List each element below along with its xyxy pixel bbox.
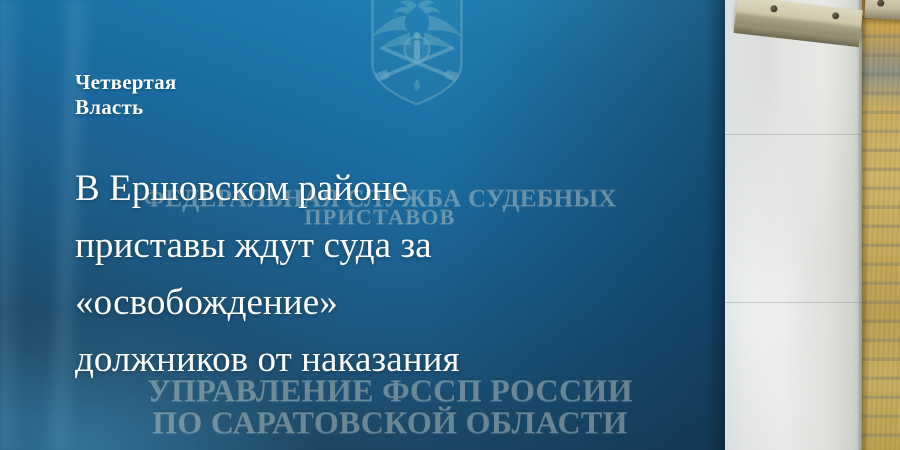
headline-line-4: должников от наказания [75,331,715,388]
headline-line-3: «освобождение» [75,274,715,331]
site-logo[interactable]: Четвертая Власть [75,70,176,120]
ledge-bolt-icon [832,12,840,20]
fssp-emblem-icon [358,0,476,110]
pillar-seam [725,134,863,135]
headline-line-2: приставы ждут суда за [75,217,715,274]
brick-shadow [862,0,869,450]
pillar-seam [725,302,863,303]
brick-wall [862,0,900,450]
concrete-pillar [725,0,863,450]
headline-line-1: В Ершовском районе [75,160,715,217]
pillar-grime [725,0,863,450]
article-hero-card: ФЕДЕРАЛЬНАЯ СЛУЖБА СУДЕБНЫХ ПРИСТАВОВ УП… [0,0,900,450]
ledge-bolt-icon [877,0,884,7]
article-headline[interactable]: В Ершовском районе приставы ждут суда за… [75,160,715,388]
site-logo-line-2: Власть [75,95,176,120]
site-logo-line-1: Четвертая [75,70,176,95]
ledge-bolt-icon [770,5,778,13]
